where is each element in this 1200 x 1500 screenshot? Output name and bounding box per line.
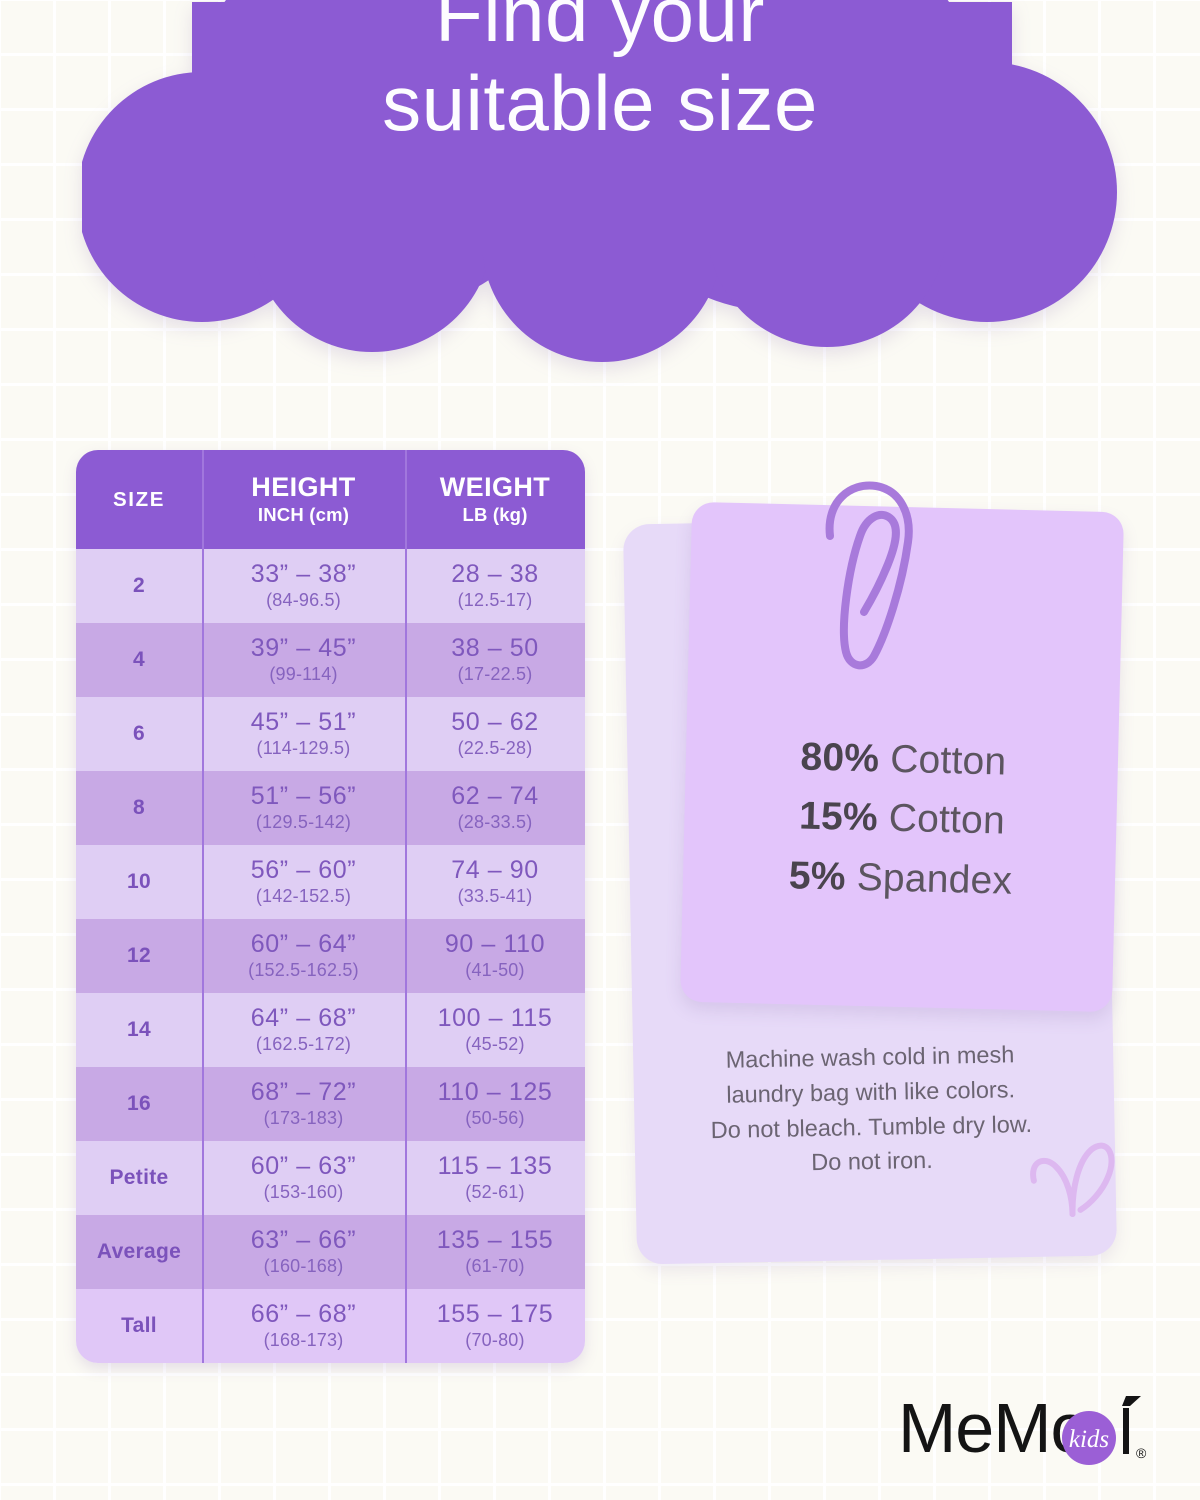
weight-lb: 62 – 74	[451, 783, 539, 809]
table-row: 1464” – 68”(162.5-172)100 – 115(45-52)	[76, 993, 585, 1067]
weight-kg: (33.5-41)	[458, 886, 533, 907]
cell-weight: 28 – 38(12.5-17)	[405, 549, 585, 623]
weight-kg: (28-33.5)	[458, 812, 533, 833]
column-header-size: SIZE	[76, 450, 202, 549]
weight-kg: (17-22.5)	[458, 664, 533, 685]
height-inches: 60” – 64”	[251, 931, 356, 957]
cell-weight: 50 – 62(22.5-28)	[405, 697, 585, 771]
size-value: 2	[133, 574, 145, 598]
logo-i-accent	[1122, 1396, 1141, 1406]
cell-weight: 115 – 135(52-61)	[405, 1141, 585, 1215]
size-value: 6	[133, 722, 145, 746]
weight-kg: (61-70)	[465, 1256, 524, 1277]
weight-lb: 115 – 135	[438, 1153, 553, 1179]
weight-lb: 135 – 155	[437, 1227, 554, 1253]
cell-height: 63” – 66”(160-168)	[202, 1215, 405, 1289]
brand-logo: MeMo kids ®	[898, 1394, 1160, 1472]
table-row: 1260” – 64”(152.5-162.5)90 – 110(41-50)	[76, 919, 585, 993]
cell-height: 68” – 72”(173-183)	[202, 1067, 405, 1141]
weight-lb: 155 – 175	[437, 1301, 554, 1327]
weight-lb: 38 – 50	[451, 635, 539, 661]
height-cm: (84-96.5)	[266, 590, 341, 611]
column-header-height-unit: INCH (cm)	[258, 504, 349, 526]
cell-height: 33” – 38”(84-96.5)	[202, 549, 405, 623]
height-inches: 56” – 60”	[251, 857, 356, 883]
composition-percent: 80%	[800, 736, 880, 781]
composition-line: 80% Cotton	[687, 725, 1120, 795]
table-row: 645” – 51”(114-129.5)50 – 62(22.5-28)	[76, 697, 585, 771]
cell-size: 10	[76, 845, 202, 919]
cell-weight: 62 – 74(28-33.5)	[405, 771, 585, 845]
weight-lb: 90 – 110	[445, 931, 545, 957]
height-inches: 64” – 68”	[251, 1005, 356, 1031]
column-header-height-label: HEIGHT	[251, 473, 355, 502]
table-row: Tall66” – 68”(168-173)155 – 175(70-80)	[76, 1289, 585, 1363]
height-inches: 45” – 51”	[251, 709, 356, 735]
cell-weight: 74 – 90(33.5-41)	[405, 845, 585, 919]
size-value: 16	[127, 1092, 151, 1116]
cell-height: 60” – 64”(152.5-162.5)	[202, 919, 405, 993]
height-cm: (129.5-142)	[256, 812, 351, 833]
cell-weight: 155 – 175(70-80)	[405, 1289, 585, 1363]
weight-lb: 74 – 90	[451, 857, 539, 883]
table-row: 233” – 38”(84-96.5)28 – 38(12.5-17)	[76, 549, 585, 623]
table-row: Petite60” – 63”(153-160)115 – 135(52-61)	[76, 1141, 585, 1215]
height-inches: 63” – 66”	[251, 1227, 356, 1253]
logo-i-stem	[1123, 1408, 1129, 1454]
column-header-weight: WEIGHT LB (kg)	[405, 450, 585, 549]
size-value: Tall	[121, 1314, 157, 1338]
table-row: 851” – 56”(129.5-142)62 – 74(28-33.5)	[76, 771, 585, 845]
cloud-banner: Find your suitable size	[82, 0, 1118, 362]
cell-height: 64” – 68”(162.5-172)	[202, 993, 405, 1067]
column-header-size-label: SIZE	[113, 488, 165, 512]
height-inches: 33” – 38”	[251, 561, 356, 587]
composition-material: Cotton	[890, 738, 1007, 784]
height-cm: (152.5-162.5)	[248, 960, 359, 981]
cell-size: 16	[76, 1067, 202, 1141]
height-cm: (142-152.5)	[256, 886, 351, 907]
kids-badge-text: kids	[1069, 1426, 1109, 1453]
table-row: 1056” – 60”(142-152.5)74 – 90(33.5-41)	[76, 845, 585, 919]
height-cm: (99-114)	[269, 664, 337, 685]
height-inches: 51” – 56”	[251, 783, 356, 809]
size-value: Average	[97, 1240, 181, 1264]
size-value: 4	[133, 648, 145, 672]
weight-kg: (70-80)	[465, 1330, 524, 1351]
cell-height: 39” – 45”(99-114)	[202, 623, 405, 697]
column-header-weight-unit: LB (kg)	[462, 504, 527, 526]
cell-size: 4	[76, 623, 202, 697]
height-inches: 66” – 68”	[251, 1301, 356, 1327]
composition-material: Spandex	[856, 855, 1012, 902]
fabric-composition: 80% Cotton 15% Cotton 5% Spandex	[684, 725, 1120, 913]
height-cm: (173-183)	[264, 1108, 344, 1129]
page-title: Find your suitable size	[82, 0, 1118, 148]
logo-wordmark-text: MeMo	[898, 1394, 1088, 1467]
size-chart-table: SIZE HEIGHT INCH (cm) WEIGHT LB (kg) 233…	[76, 450, 585, 1363]
cell-weight: 110 – 125(50-56)	[405, 1067, 585, 1141]
table-row: 1668” – 72”(173-183)110 – 125(50-56)	[76, 1067, 585, 1141]
cell-size: 14	[76, 993, 202, 1067]
cell-height: 51” – 56”(129.5-142)	[202, 771, 405, 845]
height-inches: 68” – 72”	[251, 1079, 356, 1105]
cell-weight: 135 – 155(61-70)	[405, 1215, 585, 1289]
cell-size: Tall	[76, 1289, 202, 1363]
weight-lb: 28 – 38	[451, 561, 539, 587]
cell-weight: 90 – 110(41-50)	[405, 919, 585, 993]
cell-size: Average	[76, 1215, 202, 1289]
size-value: Petite	[110, 1166, 169, 1190]
cell-weight: 100 – 115(45-52)	[405, 993, 585, 1067]
weight-lb: 50 – 62	[451, 709, 539, 735]
table-row: 439” – 45”(99-114)38 – 50(17-22.5)	[76, 623, 585, 697]
notes-panel: 80% Cotton 15% Cotton 5% Spandex Machine…	[618, 500, 1128, 1280]
registered-mark: ®	[1136, 1445, 1147, 1461]
weight-lb: 110 – 125	[438, 1079, 553, 1105]
column-header-weight-label: WEIGHT	[440, 473, 550, 502]
composition-line: 15% Cotton	[685, 784, 1118, 854]
cell-height: 66” – 68”(168-173)	[202, 1289, 405, 1363]
height-cm: (168-173)	[264, 1330, 344, 1351]
cell-size: Petite	[76, 1141, 202, 1215]
size-value: 10	[127, 870, 151, 894]
table-body: 233” – 38”(84-96.5)28 – 38(12.5-17)439” …	[76, 549, 585, 1363]
cell-weight: 38 – 50(17-22.5)	[405, 623, 585, 697]
size-value: 8	[133, 796, 145, 820]
height-inches: 39” – 45”	[251, 635, 356, 661]
column-divider-1	[202, 450, 204, 1363]
height-cm: (114-129.5)	[257, 738, 351, 759]
cell-size: 6	[76, 697, 202, 771]
column-header-height: HEIGHT INCH (cm)	[202, 450, 405, 549]
weight-lb: 100 – 115	[438, 1005, 553, 1031]
weight-kg: (50-56)	[465, 1108, 524, 1129]
column-divider-2	[405, 450, 407, 1363]
height-inches: 60” – 63”	[251, 1153, 356, 1179]
weight-kg: (41-50)	[465, 960, 524, 981]
table-header-row: SIZE HEIGHT INCH (cm) WEIGHT LB (kg)	[76, 450, 585, 549]
cell-height: 56” – 60”(142-152.5)	[202, 845, 405, 919]
paperclip-icon	[808, 474, 928, 674]
cell-size: 12	[76, 919, 202, 993]
height-cm: (162.5-172)	[256, 1034, 351, 1055]
title-line-2: suitable size	[82, 59, 1118, 148]
composition-percent: 5%	[788, 854, 846, 898]
composition-material: Cotton	[888, 797, 1005, 843]
weight-kg: (22.5-28)	[458, 738, 533, 759]
table-row: Average63” – 66”(160-168)135 – 155(61-70…	[76, 1215, 585, 1289]
size-value: 14	[127, 1018, 151, 1042]
heart-doodle-icon	[1027, 1139, 1119, 1233]
composition-percent: 15%	[799, 795, 879, 840]
size-value: 12	[127, 944, 151, 968]
height-cm: (153-160)	[264, 1182, 344, 1203]
cell-size: 2	[76, 549, 202, 623]
composition-line: 5% Spandex	[684, 843, 1117, 913]
height-cm: (160-168)	[264, 1256, 344, 1277]
cell-size: 8	[76, 771, 202, 845]
title-line-1: Find your	[82, 0, 1118, 59]
weight-kg: (52-61)	[465, 1182, 524, 1203]
cell-height: 45” – 51”(114-129.5)	[202, 697, 405, 771]
cell-height: 60” – 63”(153-160)	[202, 1141, 405, 1215]
weight-kg: (12.5-17)	[458, 590, 533, 611]
weight-kg: (45-52)	[465, 1034, 524, 1055]
